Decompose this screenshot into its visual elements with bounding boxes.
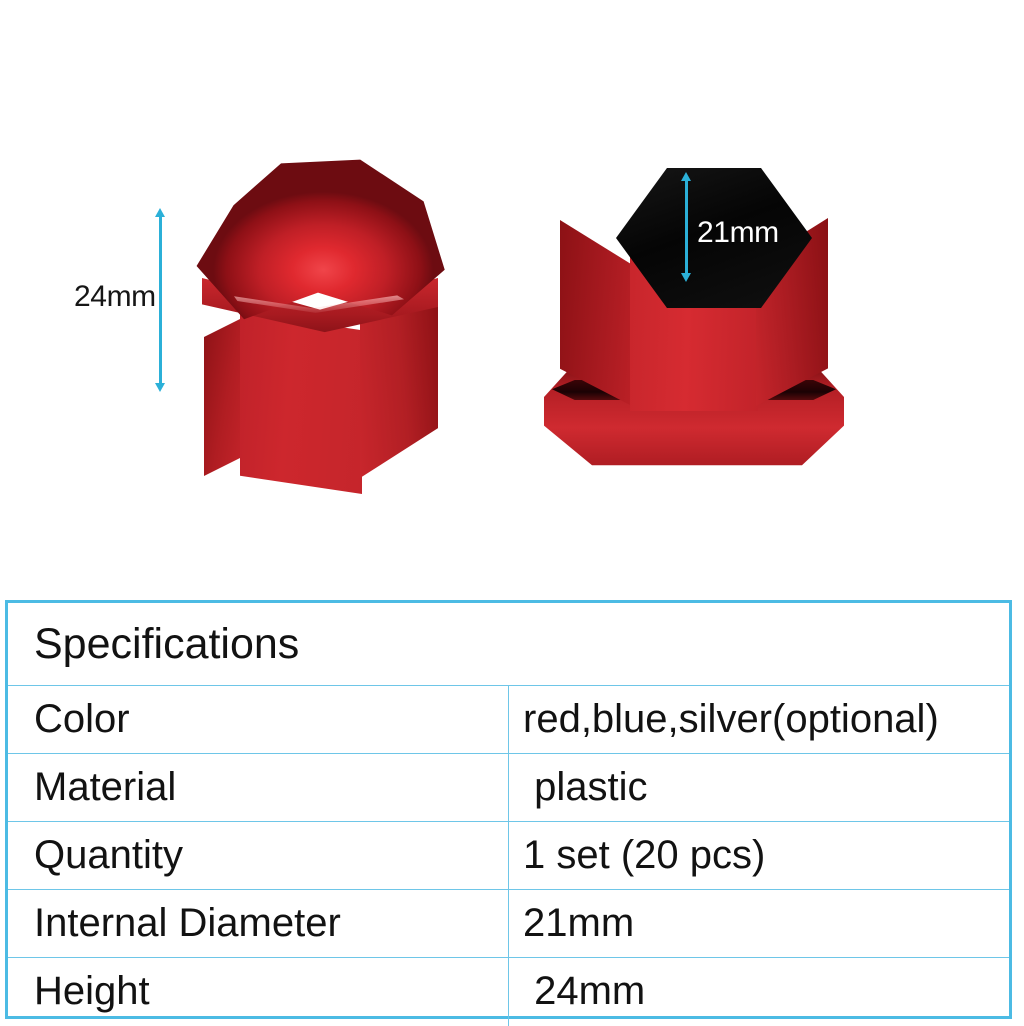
table-header-row: Specifications [8, 603, 1009, 686]
spec-value-height: 24mm [509, 958, 1010, 1026]
height-dimension-arrow-icon [159, 208, 162, 392]
cap-face-left [204, 318, 242, 476]
diameter-dimension-arrow-icon [685, 172, 688, 282]
cap-hex-body-open [560, 168, 828, 412]
cap-face-right [360, 300, 438, 478]
table-row: Color red,blue,silver(optional) [8, 686, 1009, 754]
product-image-cap-open [544, 162, 844, 474]
product-showcase: 24mm 21mm [0, 0, 1024, 595]
specifications-title: Specifications [8, 603, 1009, 686]
table-row: Internal Diameter 21mm [8, 890, 1009, 958]
spec-value-internal-diameter: 21mm [509, 890, 1010, 958]
cap-open-face-left [560, 220, 632, 406]
spec-key-quantity: Quantity [8, 822, 509, 890]
spec-value-quantity: 1 set (20 pcs) [509, 822, 1010, 890]
diameter-dimension-label: 21mm [697, 216, 779, 250]
spec-value-material: plastic [509, 754, 1010, 822]
spec-key-color: Color [8, 686, 509, 754]
spec-key-material: Material [8, 754, 509, 822]
product-image-cap-closed [182, 152, 454, 500]
spec-key-internal-diameter: Internal Diameter [8, 890, 509, 958]
height-dimension-label: 24mm [74, 280, 156, 314]
table-row: Quantity 1 set (20 pcs) [8, 822, 1009, 890]
table-row: Material plastic [8, 754, 1009, 822]
cap-face-front [240, 312, 362, 494]
specifications-table: Specifications Color red,blue,silver(opt… [5, 600, 1012, 1019]
spec-value-color: red,blue,silver(optional) [509, 686, 1010, 754]
spec-key-height: Height [8, 958, 509, 1026]
table-row: Height 24mm [8, 958, 1009, 1026]
